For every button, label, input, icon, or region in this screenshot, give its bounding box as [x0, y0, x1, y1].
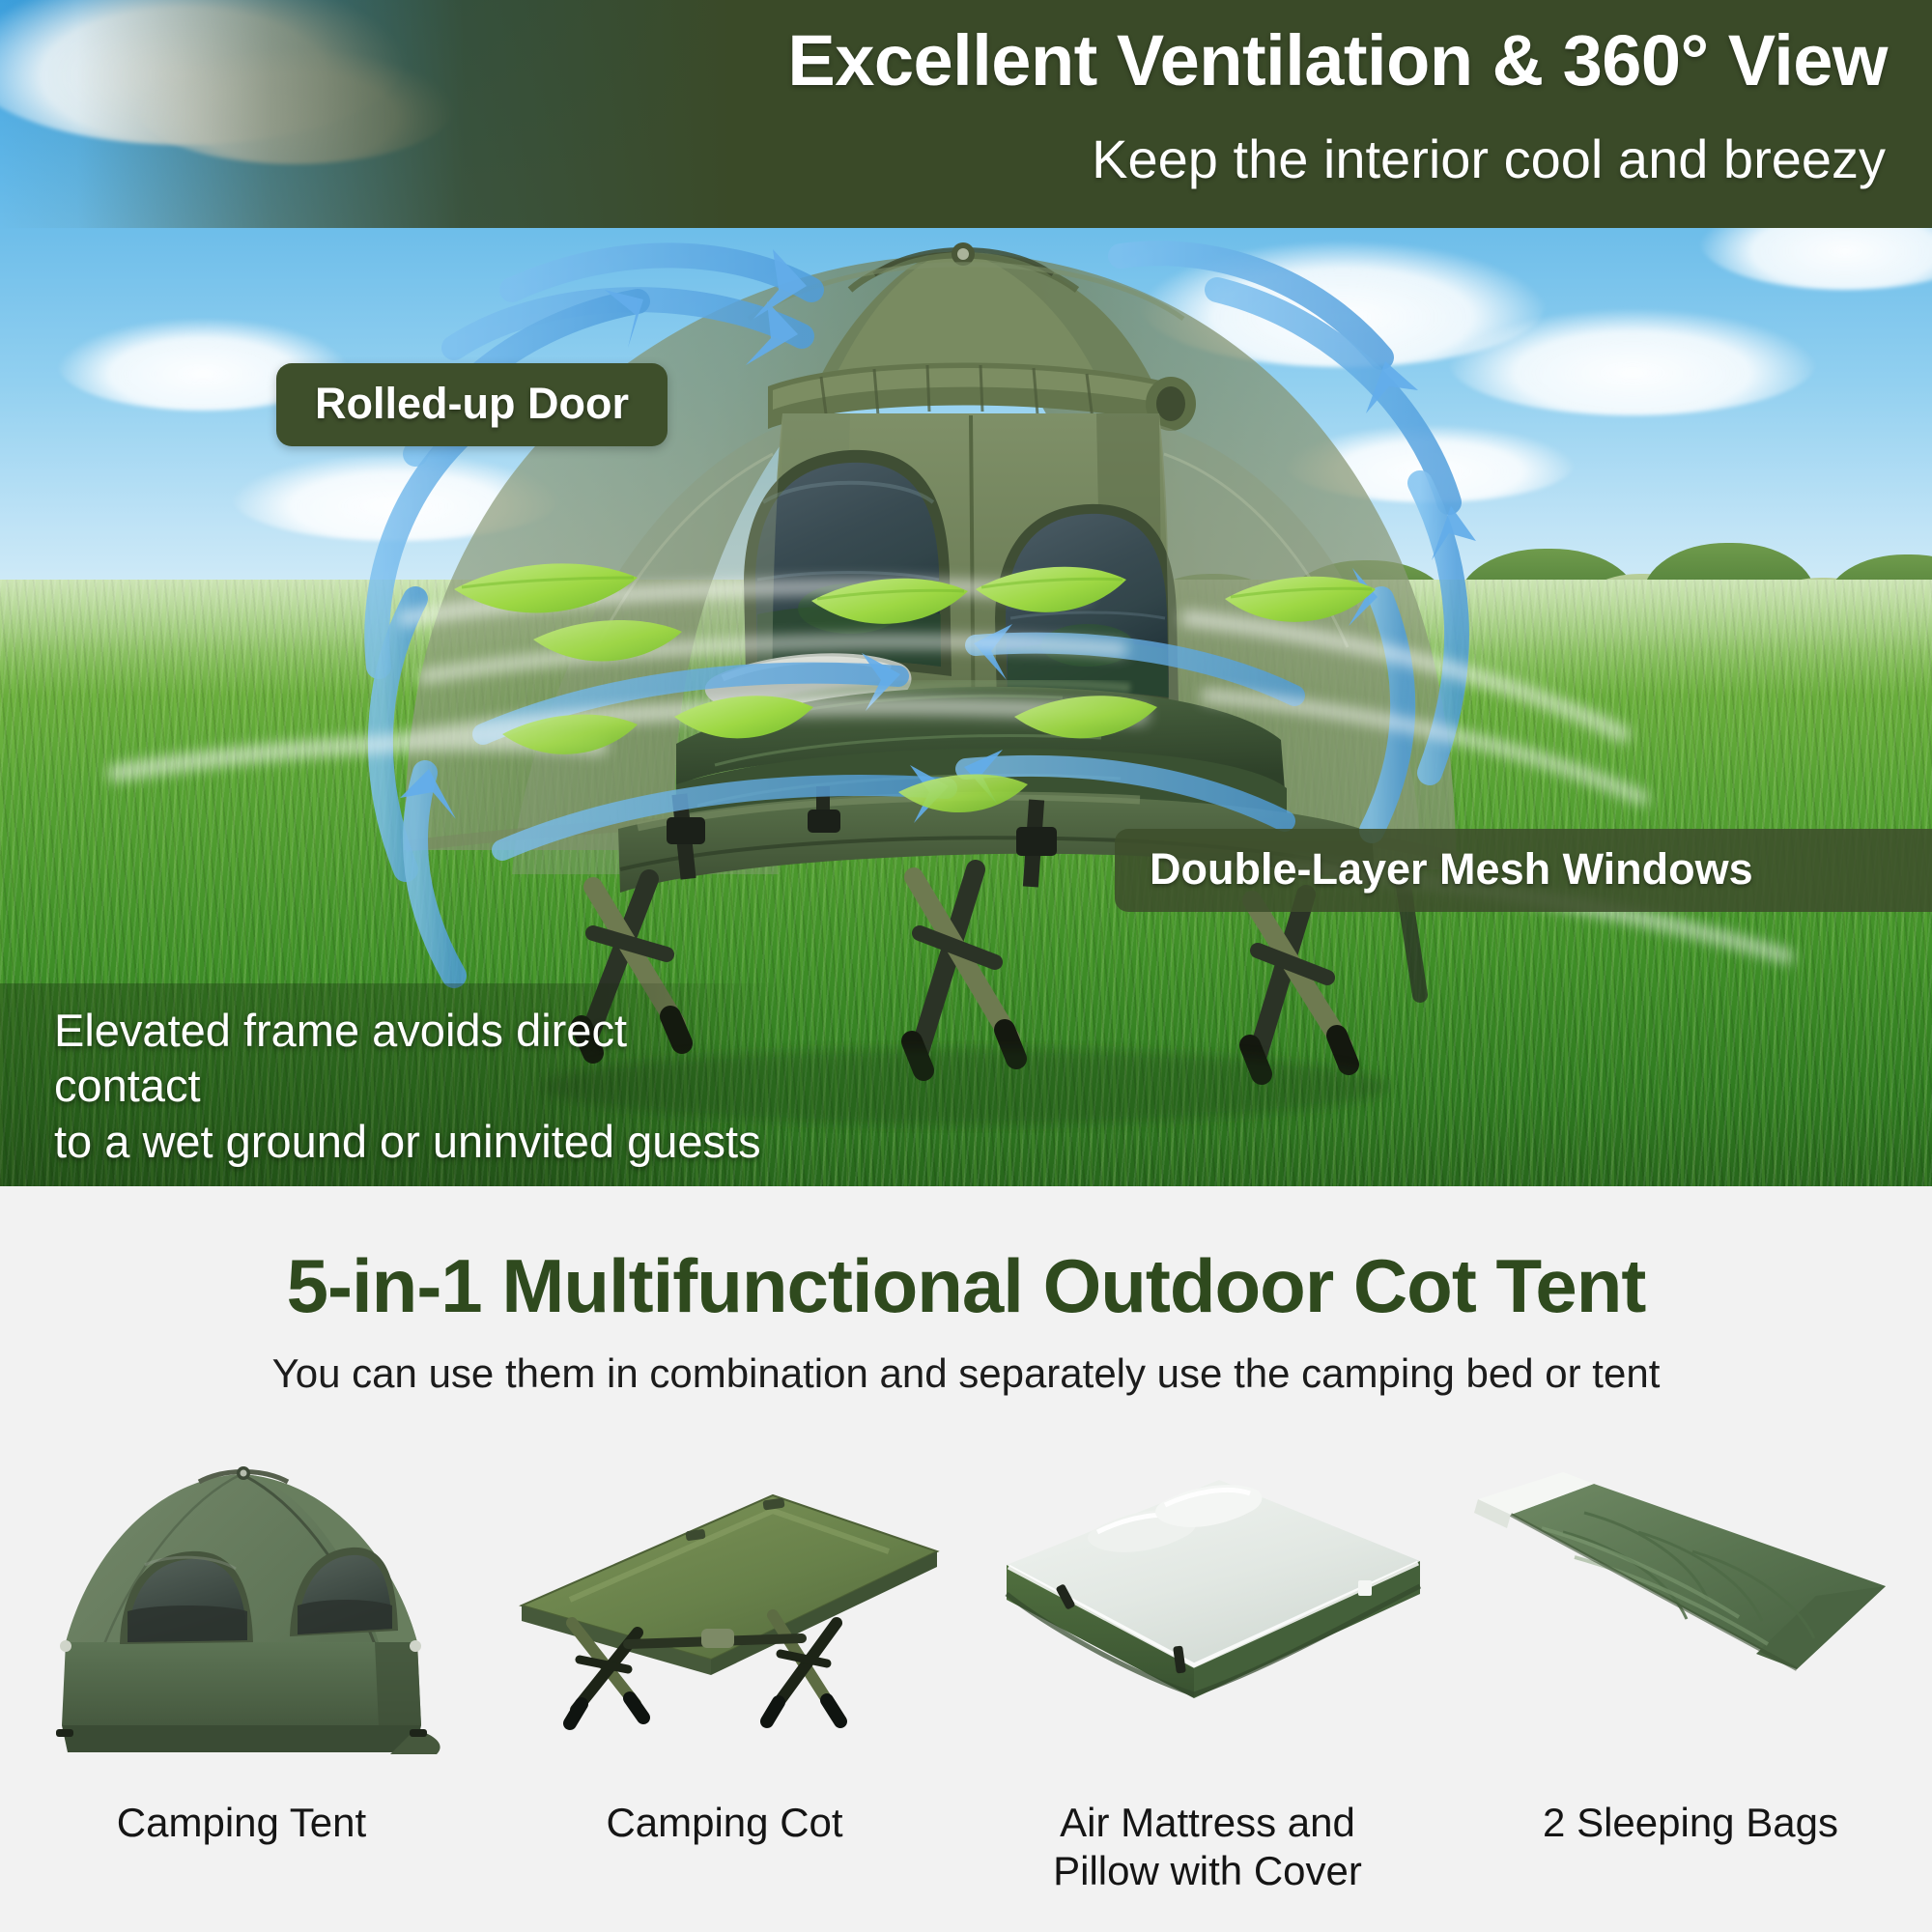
component-caption: Camping Cot [483, 1799, 966, 1847]
callout-elevated-frame-line2: to a wet ground or uninvited guests [54, 1114, 784, 1169]
product-infographic: Rolled-up Door Double-Layer Mesh Windows… [0, 0, 1932, 1932]
section-subtitle: You can use them in combination and sepa… [0, 1350, 1932, 1397]
banner-title: Excellent Ventilation & 360° View [787, 19, 1888, 101]
component-list: Camping Tent [0, 1439, 1932, 1922]
component-air-mattress: Air Mattress and Pillow with Cover [966, 1439, 1449, 1922]
component-caption-line2: Pillow with Cover [966, 1847, 1449, 1895]
component-caption-line1: 2 Sleeping Bags [1449, 1799, 1932, 1847]
section-title: 5-in-1 Multifunctional Outdoor Cot Tent [0, 1242, 1932, 1330]
callout-rolled-up-door: Rolled-up Door [276, 363, 668, 446]
component-caption: Camping Tent [0, 1799, 483, 1847]
component-sleeping-bags: 2 Sleeping Bags [1449, 1439, 1932, 1922]
camping-tent-thumbnail [0, 1439, 483, 1787]
callout-elevated-frame-line1: Elevated frame avoids direct contact [54, 1003, 784, 1114]
component-caption-line1: Camping Tent [0, 1799, 483, 1847]
sleeping-bag-thumbnail [1449, 1439, 1932, 1787]
header-banner: Excellent Ventilation & 360° View Keep t… [0, 0, 1932, 228]
banner-subtitle: Keep the interior cool and breezy [1092, 128, 1886, 190]
air-mattress-thumbnail [966, 1439, 1449, 1787]
component-camping-tent: Camping Tent [0, 1439, 483, 1922]
component-caption-line1: Air Mattress and [966, 1799, 1449, 1847]
callout-elevated-frame: Elevated frame avoids direct contact to … [0, 983, 784, 1186]
hero-photo-section: Rolled-up Door Double-Layer Mesh Windows… [0, 0, 1932, 1186]
component-caption: 2 Sleeping Bags [1449, 1799, 1932, 1847]
component-camping-cot: Camping Cot [483, 1439, 966, 1922]
component-caption: Air Mattress and Pillow with Cover [966, 1799, 1449, 1894]
callout-mesh-windows: Double-Layer Mesh Windows [1115, 829, 1932, 912]
components-section: 5-in-1 Multifunctional Outdoor Cot Tent … [0, 1186, 1932, 1932]
component-caption-line1: Camping Cot [483, 1799, 966, 1847]
camping-cot-thumbnail [483, 1439, 966, 1787]
